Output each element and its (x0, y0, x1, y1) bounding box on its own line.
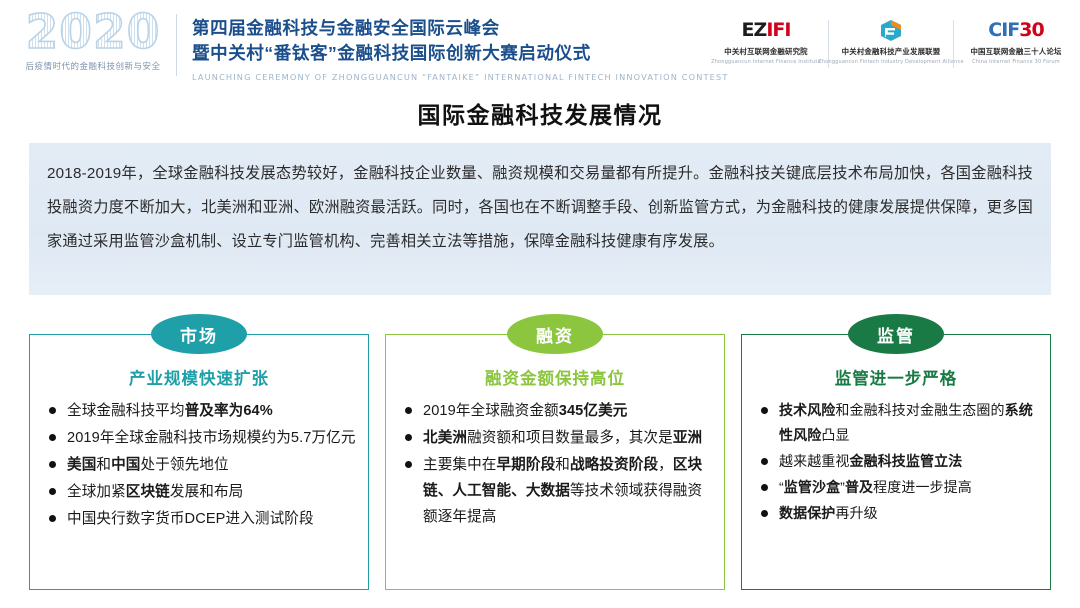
card-market-heading: 产业规模快速扩张 (30, 365, 368, 389)
list-item: 全球加紧区块链发展和布局 (46, 479, 356, 505)
ezifi-mark-a: EZ (742, 19, 767, 41)
cif30-mark-b: 30 (1019, 19, 1043, 41)
ezifi-logo-icon: EZIFI (742, 18, 791, 42)
list-item: 中国央行数字货币DCEP进入测试阶段 (46, 506, 356, 532)
intro-paragraph: 2018-2019年，全球金融科技发展态势较好，金融科技企业数量、融资规模和交易… (29, 143, 1051, 259)
list-item: 2019年全球金融科技市场规模约为5.7万亿元 (46, 425, 356, 451)
header-divider (176, 14, 177, 76)
list-item: 技术风险和金融科技对金融生态圈的系统性风险凸显 (758, 398, 1038, 448)
header-logo-group: EZIFI 中关村互联网金融研究院 Zhongguancun Internet … (710, 18, 1072, 76)
list-item: 越来越重视金融科技监管立法 (758, 449, 1038, 474)
cif30-name-cn: 中国互联网金融三十人论坛 (970, 46, 1061, 57)
list-item: 全球金融科技平均普及率为64% (46, 398, 356, 424)
slide-root: 2020 后疫情时代的金融科技创新与安全 第四届金融科技与金融安全国际云峰会 暨… (0, 0, 1080, 608)
zgc-alliance-name-en: Zhongguancun Fintech Industry Developmen… (818, 59, 963, 65)
cif30-name-en: China Internet Finance 30 Forum (972, 59, 1060, 65)
card-financing-heading: 融资金额保持高位 (386, 365, 724, 389)
list-item: “监管沙盒”普及程度进一步提高 (758, 475, 1038, 500)
card-regulation-badge: 监管 (848, 314, 944, 354)
cif30-mark-a: CIF (988, 19, 1019, 41)
logo-cif30: CIF30 中国互联网金融三十人论坛 China Internet Financ… (960, 18, 1072, 65)
card-market-bullets: 全球金融科技平均普及率为64%2019年全球金融科技市场规模约为5.7万亿元美国… (30, 398, 368, 532)
logo-separator-2 (953, 20, 954, 68)
ezifi-name-cn: 中关村互联网金融研究院 (724, 46, 808, 57)
logo-zgc-alliance: 中关村金融科技产业发展联盟 Zhongguancun Fintech Indus… (835, 18, 947, 65)
cards-row: 市场 产业规模快速扩张 全球金融科技平均普及率为64%2019年全球金融科技市场… (0, 334, 1080, 596)
card-financing-badge: 融资 (507, 314, 603, 354)
header-year-tagline: 后疫情时代的金融科技创新与安全 (25, 60, 160, 72)
card-regulation-heading: 监管进一步严格 (742, 365, 1050, 389)
card-regulation-bullets: 技术风险和金融科技对金融生态圈的系统性风险凸显越来越重视金融科技监管立法“监管沙… (742, 398, 1050, 526)
list-item: 北美洲融资额和项目数量最多，其次是亚洲 (402, 425, 712, 451)
slide-header: 2020 后疫情时代的金融科技创新与安全 第四届金融科技与金融安全国际云峰会 暨… (0, 0, 1080, 88)
page-title: 国际金融科技发展情况 (0, 96, 1080, 130)
list-item: 2019年全球融资金额345亿美元 (402, 398, 712, 424)
card-financing-bullets: 2019年全球融资金额345亿美元北美洲融资额和项目数量最多，其次是亚洲主要集中… (386, 398, 724, 530)
header-year-text: 2020 (26, 8, 161, 57)
header-title-group: 第四届金融科技与金融安全国际云峰会 暨中关村“番钛客”金融科技国际创新大赛启动仪… (192, 16, 712, 82)
ezifi-name-en: Zhongguancun Internet Finance Institute (711, 59, 821, 65)
ezifi-mark-b: IFI (766, 19, 790, 41)
header-title-english: LAUNCHING CEREMONY OF ZHONGGUANCUN “FANT… (192, 72, 712, 82)
logo-ezifi: EZIFI 中关村互联网金融研究院 Zhongguancun Internet … (710, 18, 822, 65)
zgc-alliance-name-cn: 中关村金融科技产业发展联盟 (842, 46, 941, 57)
intro-panel: 2018-2019年，全球金融科技发展态势较好，金融科技企业数量、融资规模和交易… (29, 143, 1051, 295)
header-year-logo: 2020 后疫情时代的金融科技创新与安全 (18, 8, 168, 84)
cif30-logo-icon: CIF30 (988, 18, 1043, 42)
list-item: 数据保护再升级 (758, 501, 1038, 526)
card-market: 市场 产业规模快速扩张 全球金融科技平均普及率为64%2019年全球金融科技市场… (29, 334, 369, 590)
card-market-badge: 市场 (151, 314, 247, 354)
list-item: 美国和中国处于领先地位 (46, 452, 356, 478)
card-regulation: 监管 监管进一步严格 技术风险和金融科技对金融生态圈的系统性风险凸显越来越重视金… (741, 334, 1051, 590)
list-item: 主要集中在早期阶段和战略投资阶段，区块链、人工智能、大数据等技术领域获得融资额逐… (402, 452, 712, 530)
zgc-alliance-logo-icon (878, 18, 904, 42)
header-title-line1: 第四届金融科技与金融安全国际云峰会 (192, 16, 712, 41)
card-financing: 融资 融资金额保持高位 2019年全球融资金额345亿美元北美洲融资额和项目数量… (385, 334, 725, 590)
header-title-line2: 暨中关村“番钛客”金融科技国际创新大赛启动仪式 (192, 41, 712, 66)
